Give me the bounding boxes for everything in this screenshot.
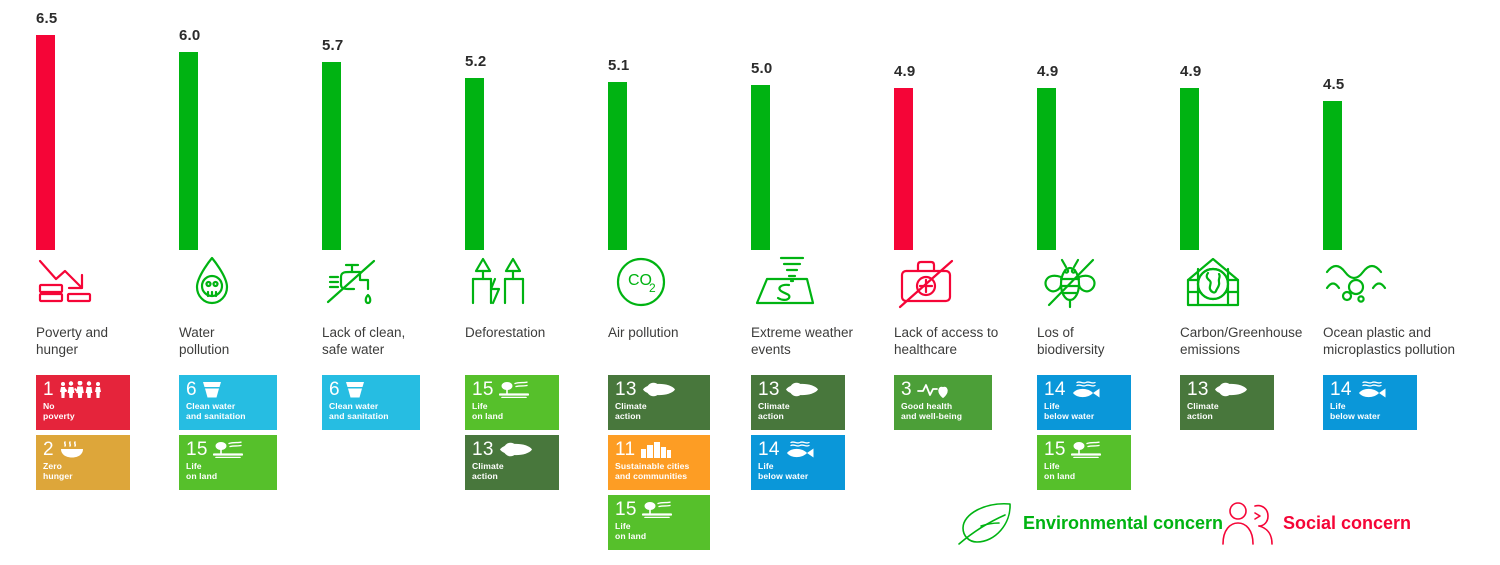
sdg-badge: 13 Climate action — [1180, 375, 1274, 430]
sdg-badge: 14 Life below water — [1323, 375, 1417, 430]
sdg-badge-title: Life on land — [472, 401, 552, 421]
broken-trees-icon — [465, 255, 531, 311]
bar — [1180, 88, 1199, 250]
sdg-badge-list: 13 Climate action11 Sustainable cities a… — [608, 375, 710, 555]
bar-value-label: 4.9 — [1037, 63, 1058, 80]
bar-value-label: 4.5 — [1323, 76, 1344, 93]
sdg-badge-number: 13 — [1187, 380, 1209, 399]
sdg-badge-title: No poverty — [43, 401, 123, 421]
sdg-badge: 3 Good health and well-being — [894, 375, 992, 430]
sdg-badge-list: 3 Good health and well-being — [894, 375, 992, 435]
sdg-badge-number: 6 — [329, 380, 340, 399]
fish-waves-icon — [785, 441, 815, 458]
sdg-badge-list: 13 Climate action14 Life below water — [751, 375, 845, 495]
crossed-out-tap-icon — [322, 255, 388, 311]
sdg-badge-title: Clean water and sanitation — [329, 401, 413, 421]
water-glass-arrow-icon — [345, 381, 365, 398]
heartbeat-icon — [917, 381, 953, 398]
sdg-badge-title: Life on land — [1044, 461, 1124, 481]
category-label: Lack of clean, safe water — [322, 324, 460, 358]
sdg-badge: 15 Life on land — [608, 495, 710, 550]
bar — [608, 82, 627, 250]
steaming-bowl-icon — [59, 441, 85, 458]
sdg-badge: 11 Sustainable cities and communities — [608, 435, 710, 490]
sdg-badge-title: Life on land — [186, 461, 270, 481]
sdg-badge-list: 15 Life on land13 Climate action — [465, 375, 559, 495]
bar — [179, 52, 198, 250]
sdg-badge: 15 Life on land — [179, 435, 277, 490]
bar-value-label: 5.7 — [322, 37, 343, 54]
category-label: Air pollution — [608, 324, 746, 341]
bar — [894, 88, 913, 250]
sdg-badge-number: 13 — [615, 380, 637, 399]
sdg-badge-title: Sustainable cities and communities — [615, 461, 703, 481]
sdg-badge: 6 Clean water and sanitation — [179, 375, 277, 430]
sdg-badge: 1 No poverty — [36, 375, 130, 430]
water-glass-arrow-icon — [202, 381, 222, 398]
bar — [322, 62, 341, 250]
category-label: Los of biodiversity — [1037, 324, 1175, 358]
sdg-badge-number: 6 — [186, 380, 197, 399]
sdg-badge-title: Life below water — [1044, 401, 1124, 421]
sdg-badge-title: Clean water and sanitation — [186, 401, 270, 421]
bar-value-label: 5.2 — [465, 53, 486, 70]
bar-value-label: 6.5 — [36, 10, 57, 27]
sdg-badge: 15 Life on land — [465, 375, 559, 430]
sdg-badge-list: 1 No poverty2 Zero hunger — [36, 375, 130, 495]
water-drop-skull-icon — [179, 255, 245, 311]
sdg-badge: 6 Clean water and sanitation — [322, 375, 420, 430]
sdg-badge-number: 3 — [901, 380, 912, 399]
sdg-badge-number: 15 — [472, 380, 494, 399]
eye-earth-icon — [642, 381, 676, 398]
greenhouse-earth-icon — [1180, 255, 1246, 311]
sdg-badge-title: Good health and well-being — [901, 401, 985, 421]
sdg-badge: 13 Climate action — [751, 375, 845, 430]
tornado-land-icon — [751, 255, 817, 311]
tree-bird-icon — [1071, 441, 1101, 458]
legend-item: Environmental concern — [955, 500, 1223, 546]
sdg-badge-list: 6 Clean water and sanitation15 Life on l… — [179, 375, 277, 495]
legend-label: Social concern — [1283, 513, 1411, 534]
category-label: Extreme weather events — [751, 324, 889, 358]
sdg-badge-title: Climate action — [615, 401, 703, 421]
legend-label: Environmental concern — [1023, 513, 1223, 534]
sdg-badge-number: 14 — [1330, 380, 1352, 399]
sdg-badge: 13 Climate action — [608, 375, 710, 430]
sdg-badge: 15 Life on land — [1037, 435, 1131, 490]
fish-waves-icon — [1071, 381, 1101, 398]
category-label: Poverty and hunger — [36, 324, 174, 358]
svg-text:2: 2 — [649, 281, 656, 295]
category-label: Water pollution — [179, 324, 317, 358]
leaf-icon — [955, 500, 1017, 546]
eye-earth-icon — [499, 441, 533, 458]
ocean-waves-bubbles-icon — [1323, 255, 1389, 311]
coins-down-arrow-icon — [36, 255, 102, 311]
tree-bird-icon — [499, 381, 529, 398]
bar — [1323, 101, 1342, 250]
sdg-badge-list: 13 Climate action — [1180, 375, 1274, 435]
sdg-badge: 13 Climate action — [465, 435, 559, 490]
bar-value-label: 4.9 — [1180, 63, 1201, 80]
eye-earth-icon — [1214, 381, 1248, 398]
crossed-out-medical-kit-icon — [894, 255, 960, 311]
people-pair-icon — [1215, 500, 1277, 546]
sdg-badge-number: 15 — [186, 440, 208, 459]
sdg-badge-list: 14 Life below water15 Life on land — [1037, 375, 1131, 495]
eye-earth-icon — [785, 381, 819, 398]
people-icon — [59, 381, 105, 398]
bar-value-label: 6.0 — [179, 27, 200, 44]
bar-value-label: 5.0 — [751, 60, 772, 77]
sdg-badge-number: 13 — [472, 440, 494, 459]
bar — [1037, 88, 1056, 250]
sdg-badge-title: Life below water — [758, 461, 838, 481]
sdg-badge-title: Climate action — [758, 401, 838, 421]
sdg-badge-list: 6 Clean water and sanitation — [322, 375, 420, 435]
category-label: Lack of access to healthcare — [894, 324, 1032, 358]
sdg-badge-title: Climate action — [1187, 401, 1267, 421]
bar-value-label: 4.9 — [894, 63, 915, 80]
sdg-badge-title: Life below water — [1330, 401, 1410, 421]
sdg-badge-number: 1 — [43, 380, 54, 399]
sdg-badge-title: Zero hunger — [43, 461, 123, 481]
sdg-badge: 14 Life below water — [1037, 375, 1131, 430]
sdg-badge-number: 15 — [615, 500, 637, 519]
sdg-badge-number: 2 — [43, 440, 54, 459]
tree-bird-icon — [642, 501, 672, 518]
bar-value-label: 5.1 — [608, 57, 629, 74]
sdg-badge-title: Climate action — [472, 461, 552, 481]
concerns-bar-chart: 6.5 Poverty and hunger1 No poverty2 Zero… — [0, 0, 1500, 565]
bar — [36, 35, 55, 250]
category-label: Carbon/Greenhouse emissions — [1180, 324, 1318, 358]
legend-item: Social concern — [1215, 500, 1411, 546]
bar — [465, 78, 484, 250]
sdg-badge: 2 Zero hunger — [36, 435, 130, 490]
sdg-badge-number: 13 — [758, 380, 780, 399]
sdg-badge-title: Life on land — [615, 521, 703, 541]
sdg-badge-number: 14 — [1044, 380, 1066, 399]
city-buildings-icon — [640, 441, 672, 458]
sdg-badge-list: 14 Life below water — [1323, 375, 1417, 435]
tree-bird-icon — [213, 441, 243, 458]
sdg-badge-number: 11 — [615, 440, 635, 459]
category-label: Ocean plastic and microplastics pollutio… — [1323, 324, 1461, 358]
bar — [751, 85, 770, 250]
fish-waves-icon — [1357, 381, 1387, 398]
category-label: Deforestation — [465, 324, 603, 341]
crossed-out-bee-icon — [1037, 255, 1103, 311]
sdg-badge-number: 14 — [758, 440, 780, 459]
co2-circle-icon: CO 2 — [608, 255, 674, 311]
sdg-badge: 14 Life below water — [751, 435, 845, 490]
sdg-badge-number: 15 — [1044, 440, 1066, 459]
